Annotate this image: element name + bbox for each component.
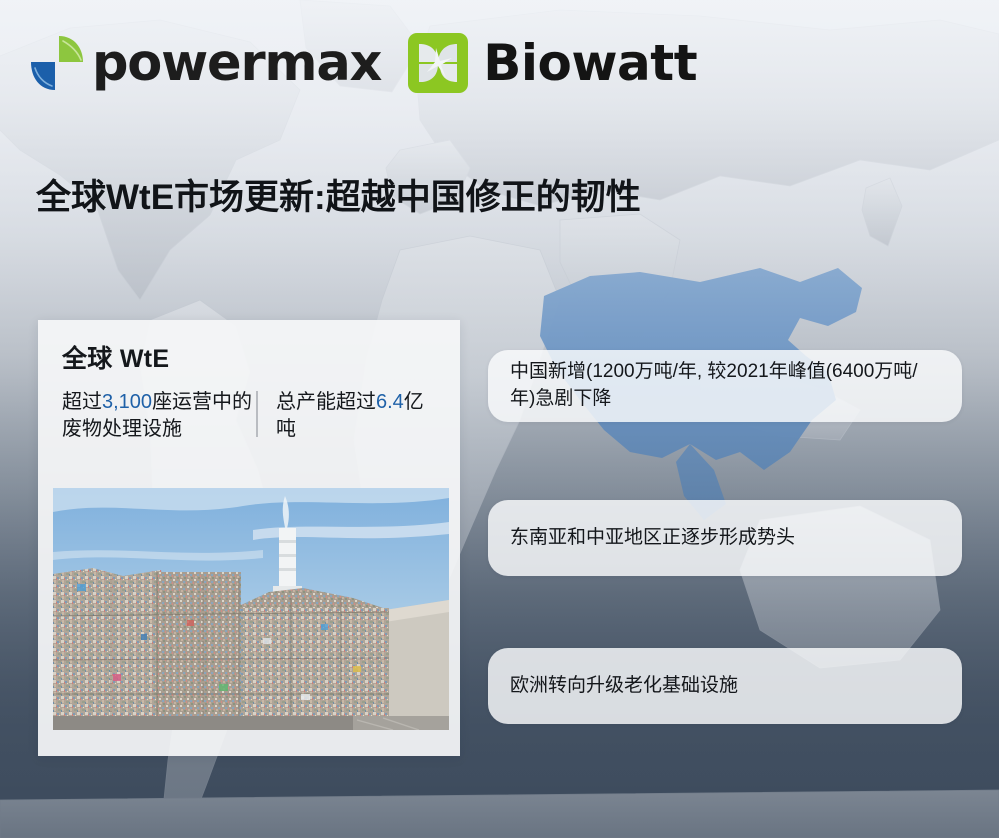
card-stats-row: 超过3,100座运营中的废物处理设施 总产能超过6.4亿吨 bbox=[62, 389, 442, 443]
stat-facilities-prefix: 超过 bbox=[62, 391, 102, 413]
biowatt-logo: Biowatt bbox=[407, 32, 697, 94]
bullet-pill-china-text: 中国新增(1200万吨/年, 较2021年峰值(6400万吨/年)急剧下降 bbox=[510, 359, 940, 413]
stat-facilities: 超过3,100座运营中的废物处理设施 bbox=[62, 389, 256, 443]
photo-illustration bbox=[53, 488, 449, 730]
page-title: 全球WtE市场更新:超越中国修正的韧性 bbox=[36, 178, 641, 217]
slide-root: powermax Biowatt 全球WtE市场更新:超越中国修正的韧性 全球 … bbox=[0, 0, 999, 838]
waste-bales-incineration-plant-photo bbox=[53, 488, 449, 730]
bullet-pill-china[interactable]: 中国新增(1200万吨/年, 较2021年峰值(6400万吨/年)急剧下降 bbox=[488, 350, 962, 422]
bullet-pill-sea-central-asia[interactable]: 东南亚和中亚地区正逐步形成势头 bbox=[488, 500, 962, 576]
stat-capacity-number: 6.4 bbox=[376, 391, 404, 413]
bullet-pill-europe[interactable]: 欧洲转向升级老化基础设施 bbox=[488, 648, 962, 724]
bullet-pill-europe-text: 欧洲转向升级老化基础设施 bbox=[510, 673, 738, 700]
card-heading: 全球 WtE bbox=[62, 339, 169, 375]
stat-capacity-prefix: 总产能超过 bbox=[276, 391, 376, 413]
powermax-logo-mark bbox=[26, 32, 88, 94]
logo-bar: powermax Biowatt bbox=[26, 32, 697, 94]
biowatt-wordmark: Biowatt bbox=[483, 38, 697, 88]
bullet-pill-sea-central-asia-text: 东南亚和中亚地区正逐步形成势头 bbox=[510, 525, 795, 552]
stat-capacity: 总产能超过6.4亿吨 bbox=[258, 389, 442, 443]
powermax-wordmark: powermax bbox=[92, 38, 381, 89]
powermax-logo: powermax bbox=[26, 32, 381, 94]
biowatt-logo-mark bbox=[407, 32, 469, 94]
stat-facilities-number: 3,100 bbox=[102, 391, 152, 413]
